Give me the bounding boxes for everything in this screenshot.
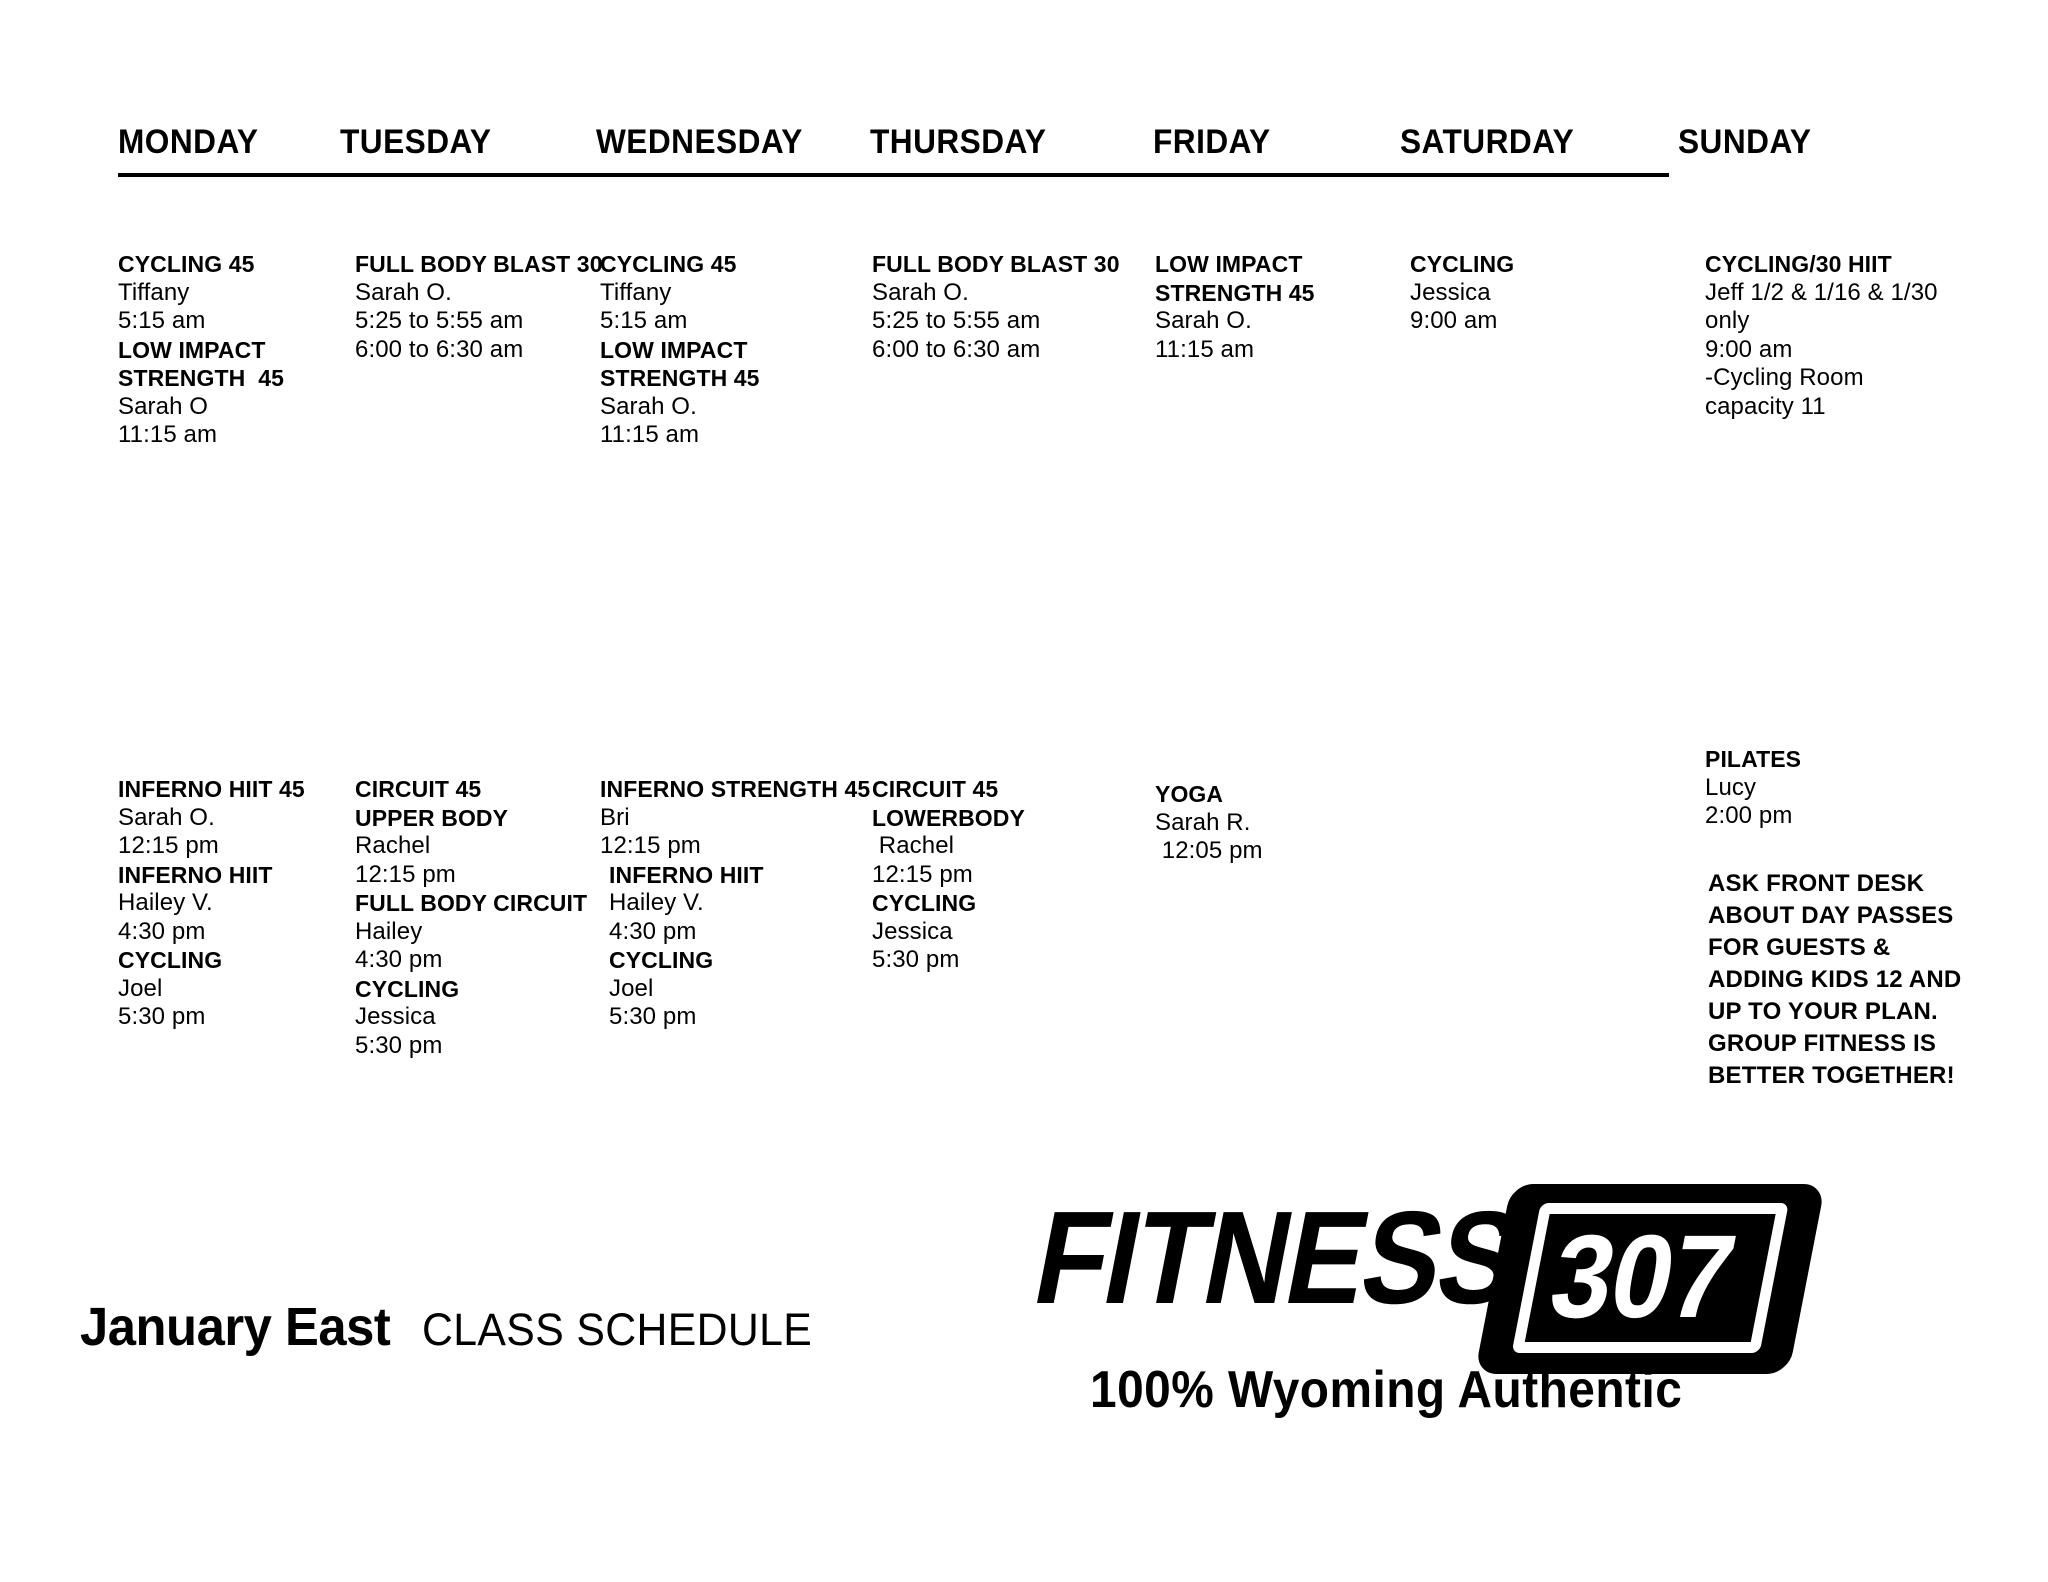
footer-month: January East (80, 1296, 390, 1358)
class-time: 5:25 to 5:55 am (872, 307, 1172, 336)
class-name: PILATES (1705, 745, 2005, 774)
class-time: 6:00 to 6:30 am (872, 336, 1172, 365)
fitness307-logo: FITNESS 307 100% Wyoming Authentic (1038, 1192, 1968, 1452)
schedule-block-saturday-morning: CYCLINGJessica9:00 am (1410, 250, 1710, 336)
class-time: 5:30 pm (872, 946, 1172, 975)
class-name: CYCLING/30 HIIT (1705, 250, 2005, 279)
class-time: -Cycling Room (1705, 364, 2005, 393)
class-name: CYCLING (600, 946, 900, 975)
class-instructor: Tiffany (600, 279, 900, 308)
footer-subtitle: CLASS SCHEDULE (422, 1304, 812, 1356)
class-name: STRENGTH 45 (600, 364, 900, 393)
class-time: 9:00 am (1410, 307, 1710, 336)
logo-number-text: 307 (1542, 1218, 1743, 1336)
class-entry: INFERNO STRENGTH 45Bri12:15 pm (600, 775, 900, 861)
class-time: only (1705, 307, 2005, 336)
class-name: CYCLING (1410, 250, 1710, 279)
class-instructor: Rachel (872, 832, 1172, 861)
schedule-block-wednesday-afternoon: INFERNO STRENGTH 45Bri12:15 pmINFERNO HI… (600, 775, 900, 1032)
class-name: YOGA (1155, 780, 1455, 809)
logo-number-badge: 307 (1475, 1184, 1826, 1374)
class-name: STRENGTH 45 (118, 364, 418, 393)
class-time: 4:30 pm (600, 918, 900, 947)
class-entry: PILATESLucy2:00 pm (1705, 745, 2005, 831)
class-name: CYCLING (872, 889, 1172, 918)
class-entry: CYCLINGJoel5:30 pm (600, 946, 900, 1032)
class-time: 11:15 am (600, 421, 900, 450)
class-instructor: Sarah O. (600, 393, 900, 422)
class-entry: CYCLING 45Tiffany5:15 am (600, 250, 900, 336)
class-name: INFERNO STRENGTH 45 (600, 775, 900, 804)
logo-tagline: 100% Wyoming Authentic (1090, 1360, 1682, 1420)
class-entry: CYCLINGJessica9:00 am (1410, 250, 1710, 336)
class-entry: CIRCUIT 45LOWERBODY Rachel12:15 pm (872, 775, 1172, 889)
class-name: CIRCUIT 45 (872, 775, 1172, 804)
class-instructor: Jessica (872, 918, 1172, 947)
logo-brand-text: FITNESS (1025, 1192, 1529, 1324)
class-time: 2:00 pm (1705, 802, 2005, 831)
class-name: FULL BODY BLAST 30 (872, 250, 1172, 279)
logo-number-inner: 307 (1512, 1203, 1789, 1353)
class-time: capacity 11 (1705, 393, 2005, 422)
class-name: LOW IMPACT (600, 336, 900, 365)
class-instructor: Sarah O. (872, 279, 1172, 308)
class-instructor: Hailey V. (600, 889, 900, 918)
class-entry: INFERNO HIITHailey V.4:30 pm (600, 861, 900, 947)
class-instructor: Sarah O (118, 393, 418, 422)
class-instructor: Joel (600, 975, 900, 1004)
schedule-block-sunday-afternoon: PILATESLucy2:00 pm (1705, 745, 2005, 831)
class-time: 5:30 pm (355, 1032, 655, 1061)
class-instructor: Bri (600, 804, 900, 833)
class-instructor: Jessica (1410, 279, 1710, 308)
schedule-block-thursday-morning: FULL BODY BLAST 30Sarah O.5:25 to 5:55 a… (872, 250, 1172, 364)
class-instructor: Sarah R. (1155, 809, 1455, 838)
schedule-block-thursday-afternoon: CIRCUIT 45LOWERBODY Rachel12:15 pmCYCLIN… (872, 775, 1172, 975)
schedule-block-friday-afternoon: YOGASarah R. 12:05 pm (1155, 780, 1455, 866)
class-entry: FULL BODY BLAST 30Sarah O.5:25 to 5:55 a… (872, 250, 1172, 364)
class-time: 12:15 pm (600, 832, 900, 861)
class-name: LOWERBODY (872, 804, 1172, 833)
footer-schedule-title: January EastCLASS SCHEDULE (80, 1296, 833, 1358)
front-desk-notice: ASK FRONT DESK ABOUT DAY PASSES FOR GUES… (1708, 868, 1968, 1092)
class-entry: CYCLINGJessica5:30 pm (872, 889, 1172, 975)
class-instructor: Jeff 1/2 & 1/16 & 1/30 (1705, 279, 2005, 308)
schedule-block-wednesday-morning: CYCLING 45Tiffany5:15 amLOW IMPACTSTRENG… (600, 250, 900, 450)
class-time: 12:15 pm (872, 861, 1172, 890)
class-name: INFERNO HIIT (600, 861, 900, 890)
class-time: 5:30 pm (600, 1003, 900, 1032)
class-time: 12:05 pm (1155, 837, 1455, 866)
class-instructor: Lucy (1705, 774, 2005, 803)
class-time: 9:00 am (1705, 336, 2005, 365)
class-entry: YOGASarah R. 12:05 pm (1155, 780, 1455, 866)
class-time: 5:15 am (600, 307, 900, 336)
class-time: 11:15 am (1155, 336, 1455, 365)
class-entry: LOW IMPACTSTRENGTH 45Sarah O.11:15 am (600, 336, 900, 450)
class-time: 11:15 am (118, 421, 418, 450)
schedule-block-sunday-morning: CYCLING/30 HIITJeff 1/2 & 1/16 & 1/30onl… (1705, 250, 2005, 421)
class-name: CYCLING 45 (600, 250, 900, 279)
class-entry: CYCLING/30 HIITJeff 1/2 & 1/16 & 1/30onl… (1705, 250, 2005, 421)
